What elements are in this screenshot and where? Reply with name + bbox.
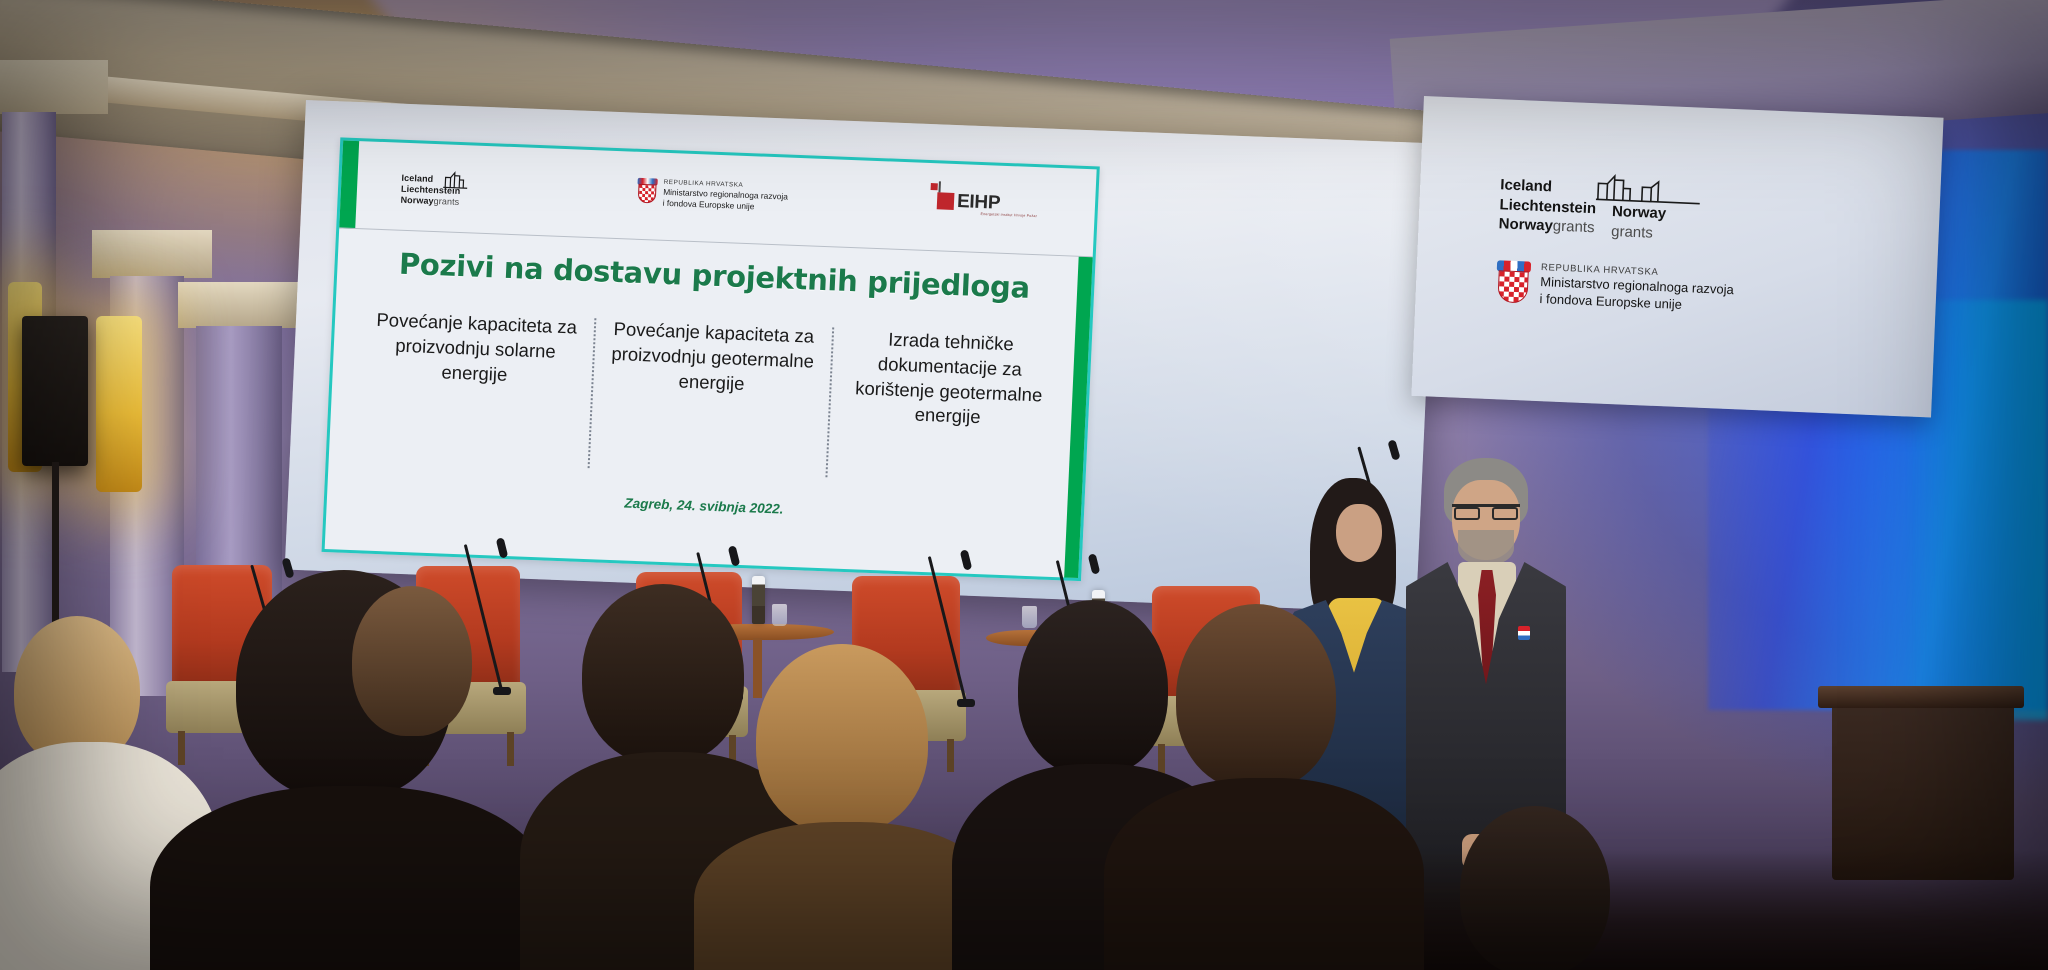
banner-ministry-logo: REPUBLIKA HRVATSKA Ministarstvo regional…	[1495, 260, 1734, 316]
audience-head	[352, 586, 472, 736]
eihp-tagline: Energetski institut Hrvoje Požar	[980, 212, 1037, 218]
conference-photo-scene: Iceland Liechtenstein Norwaygrants REPUB…	[0, 0, 2048, 970]
slide-title: Pozivi na dostavu projektnih prijedloga	[337, 244, 1092, 307]
eea-grants-logo: Iceland Liechtenstein Norwaygrants	[400, 173, 461, 208]
eea-line-3: Norway	[400, 195, 434, 206]
presentation-slide: Iceland Liechtenstein Norwaygrants REPUB…	[322, 137, 1100, 581]
lectern-top	[1818, 686, 2024, 708]
slide-column-1: Povećanje kapaciteta za proizvodnju sola…	[362, 307, 589, 390]
banner-croatia-coat-of-arms-icon	[1495, 260, 1531, 305]
audience-head	[1460, 806, 1610, 970]
presenter-woman-face	[1336, 504, 1382, 562]
audience-head	[1176, 604, 1336, 790]
slide-column-2: Povećanje kapaciteta za proizvodnju geot…	[599, 317, 826, 400]
slide-column-3: Izrada tehničke dokumentacije za korište…	[835, 326, 1063, 434]
audience-head	[582, 584, 744, 764]
column-divider-2	[825, 327, 834, 477]
wall-sconce-2	[96, 316, 142, 492]
audience-head	[756, 644, 928, 834]
audience-head	[1018, 600, 1168, 776]
croatia-coat-of-arms-icon	[637, 178, 658, 205]
eihp-mark-icon	[937, 192, 955, 210]
pa-speaker	[22, 316, 88, 466]
presenter-man-glasses-icon	[1452, 504, 1520, 517]
column-divider-1	[588, 318, 597, 468]
banner-content: Iceland Liechtenstein Norwaygrants Norwa…	[1495, 175, 1738, 316]
water-glass	[1022, 606, 1037, 628]
pa-speaker-stand	[52, 462, 59, 642]
wall-banner: Iceland Liechtenstein Norwaygrants Norwa…	[1411, 96, 1943, 418]
eihp-logo: EIHP Energetski institut Hrvoje Požar	[937, 191, 1001, 212]
column-capital-3	[178, 282, 300, 328]
water-bottle	[752, 576, 765, 624]
banner-eea-grants-word: grants	[1553, 218, 1595, 237]
slide-header: Iceland Liechtenstein Norwaygrants REPUB…	[339, 140, 1096, 257]
audience-shoulders	[1104, 778, 1424, 970]
projection-screen: Iceland Liechtenstein Norwaygrants REPUB…	[285, 100, 1438, 613]
slide-columns: Povećanje kapaciteta za proizvodnju sola…	[329, 306, 1089, 487]
presenter-man-beard	[1458, 530, 1514, 566]
banner-eea-grants-logo: Iceland Liechtenstein Norwaygrants	[1498, 175, 1597, 237]
eea-grants-word: grants	[433, 196, 459, 207]
column-capital-1	[0, 60, 108, 114]
water-glass	[772, 604, 787, 626]
column-capital-2	[92, 230, 212, 278]
banner-norway-line-2: grants	[1611, 221, 1666, 243]
ministry-logo: REPUBLIKA HRVATSKA Ministarstvo regional…	[636, 178, 788, 214]
audience-shoulders	[150, 786, 550, 970]
banner-eea-line-3: Norway	[1498, 215, 1553, 234]
slide-date-line: Zagreb, 24. svibnja 2022.	[327, 484, 1081, 528]
presenter-man-lapel-pin	[1518, 626, 1530, 640]
eihp-wordmark: EIHP	[957, 192, 1001, 213]
